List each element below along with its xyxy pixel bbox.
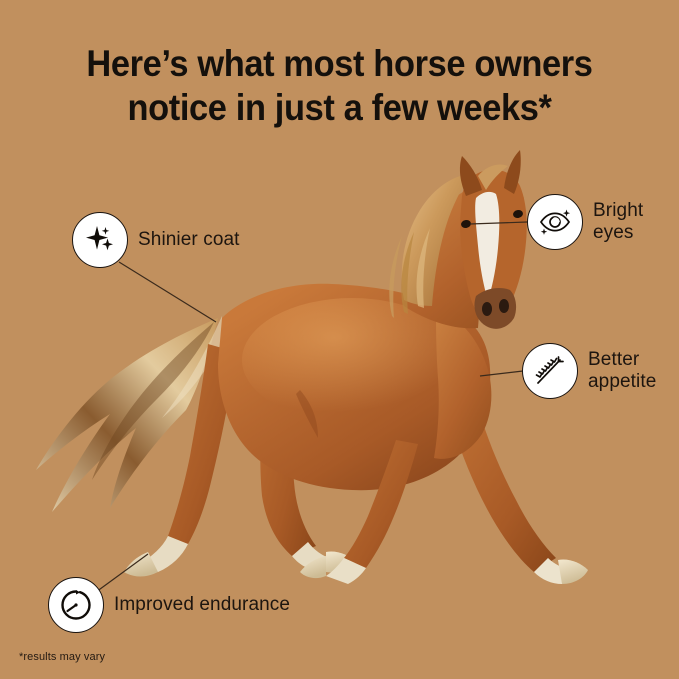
- badge-better-appetite[interactable]: [522, 343, 578, 399]
- callout-bright-eyes[interactable]: Bright eyes: [527, 194, 643, 250]
- leader-line-better-appetite: [480, 371, 523, 376]
- callout-label-shinier-coat: Shinier coat: [138, 229, 240, 251]
- leader-line-bright-eyes: [470, 222, 527, 224]
- eye-sparkle-icon: [536, 203, 574, 241]
- callout-label-better-appetite: Better appetite: [588, 349, 656, 394]
- callout-label-bright-eyes: Bright eyes: [593, 200, 643, 245]
- page-title: Here’s what most horse owners notice in …: [24, 42, 655, 129]
- callout-shinier-coat[interactable]: Shinier coat: [72, 212, 240, 268]
- footnote-disclaimer: *results may vary: [19, 651, 105, 663]
- sparkle-icon: [82, 222, 118, 258]
- callout-improved-endurance[interactable]: Improved endurance: [48, 577, 290, 633]
- badge-shinier-coat[interactable]: [72, 212, 128, 268]
- infographic-canvas: Here’s what most horse owners notice in …: [0, 0, 679, 679]
- leader-line-shinier-coat: [119, 262, 216, 322]
- badge-improved-endurance[interactable]: [48, 577, 104, 633]
- callout-better-appetite[interactable]: Better appetite: [522, 343, 656, 399]
- wheat-icon: [532, 353, 568, 389]
- badge-bright-eyes[interactable]: [527, 194, 583, 250]
- callout-label-improved-endurance: Improved endurance: [114, 594, 290, 616]
- stopwatch-icon: [58, 587, 94, 623]
